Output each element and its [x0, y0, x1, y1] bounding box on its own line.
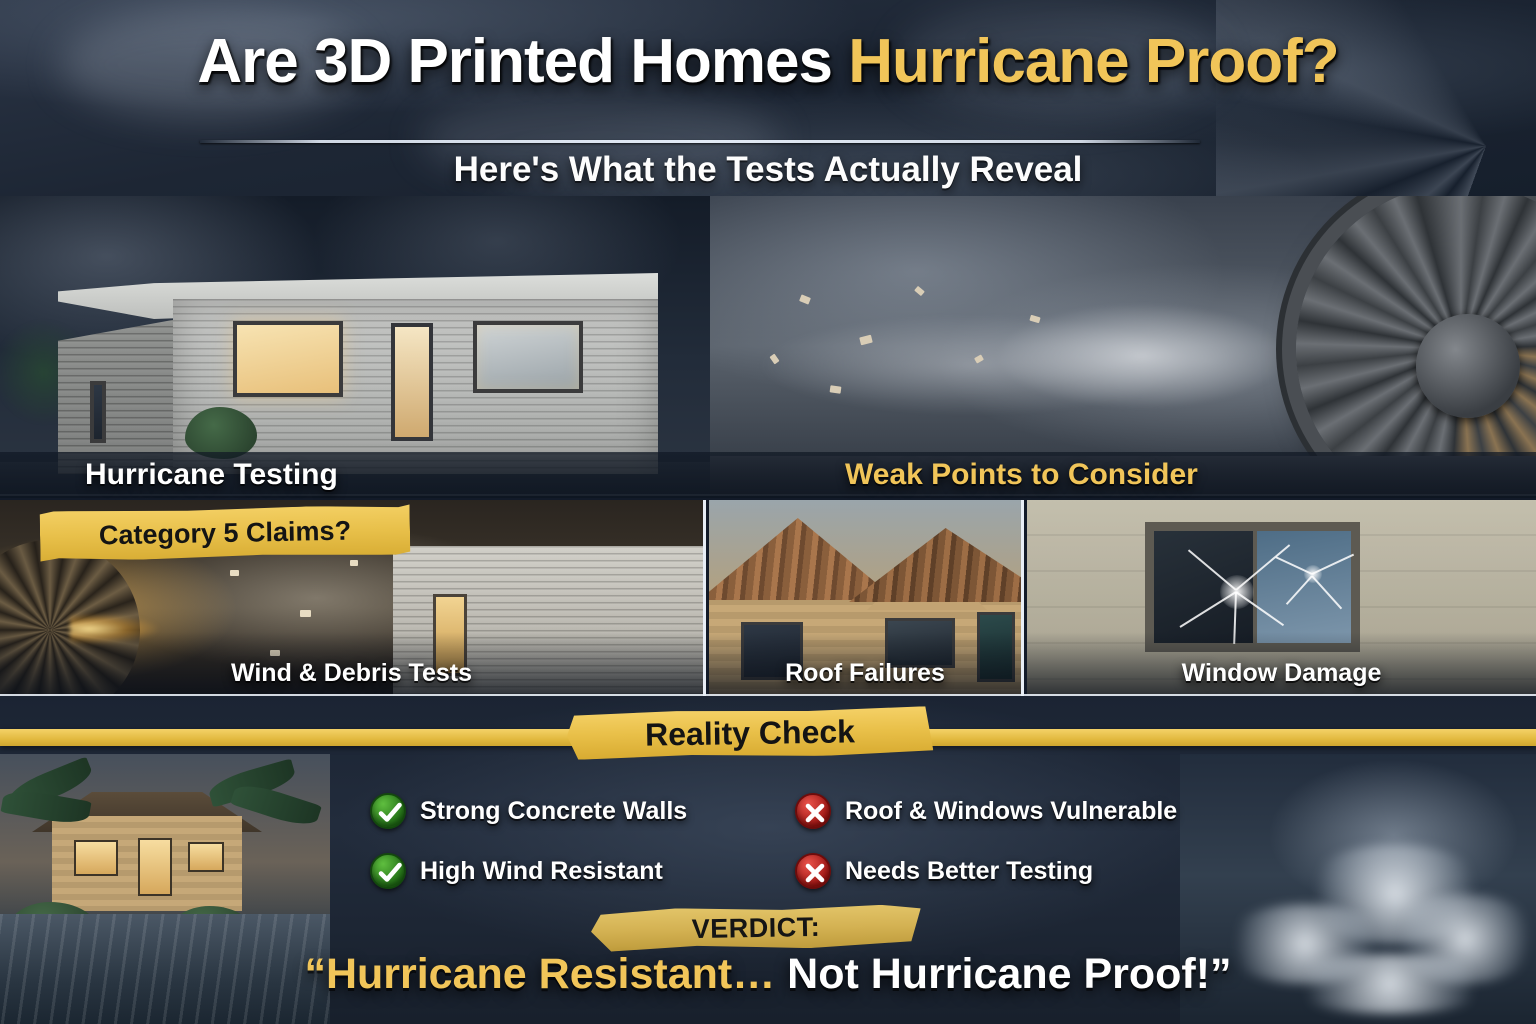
- reality-check-banner: Reality Check: [567, 706, 934, 760]
- title-divider-rule: [200, 140, 1200, 143]
- debris-fleck: [300, 610, 311, 617]
- check-circle-icon: [370, 793, 406, 829]
- pro-label-high-wind-resistant: High Wind Resistant: [420, 857, 663, 886]
- middle-panel-row: Category 5 Claims? Wind & Debris Tests R…: [0, 500, 1536, 696]
- panel-caption-wind-debris: Wind & Debris Tests: [0, 659, 703, 688]
- x-circle-icon: [795, 853, 831, 889]
- reality-check-label: Reality Check: [645, 713, 855, 753]
- hero-label-weak-points: Weak Points to Consider: [845, 452, 1198, 498]
- hero-image-3d-printed-house: [0, 196, 710, 496]
- panel-caption-window-damage: Window Damage: [1027, 659, 1536, 688]
- verdict-quote: “Hurricane Resistant… Not Hurricane Proo…: [0, 950, 1536, 999]
- title-text-gold: Hurricane Proof?: [848, 27, 1338, 96]
- check-circle-icon: [370, 853, 406, 889]
- debris-fleck: [350, 560, 358, 566]
- debris-fleck: [230, 570, 239, 576]
- title-text-white: Are 3D Printed Homes: [197, 27, 848, 96]
- printed-house-illustration: [58, 259, 658, 474]
- hero-image-wind-tunnel: [710, 196, 1536, 496]
- panel-window-damage: Window Damage: [1027, 500, 1536, 696]
- hero-row: [0, 196, 1536, 496]
- pros-cons-checklist: Strong Concrete Walls High Wind Resistan…: [370, 785, 1240, 895]
- house-side-wall: [58, 319, 178, 474]
- lit-window: [188, 842, 224, 872]
- list-item-pro: Strong Concrete Walls: [370, 793, 687, 829]
- verdict-label: VERDICT:: [691, 911, 820, 944]
- con-label-needs-better-testing: Needs Better Testing: [845, 857, 1093, 886]
- pro-label-strong-concrete-walls: Strong Concrete Walls: [420, 797, 687, 826]
- verdict-quote-white: Not Hurricane Proof!”: [775, 950, 1231, 998]
- x-circle-icon: [795, 793, 831, 829]
- page-subtitle: Here's What the Tests Actually Reveal: [0, 150, 1536, 190]
- debris-fleck: [830, 385, 842, 393]
- con-label-roof-windows-vulnerable: Roof & Windows Vulnerable: [845, 797, 1177, 826]
- list-item-con: Roof & Windows Vulnerable: [795, 793, 1177, 829]
- stripped-roof-right: [849, 528, 1024, 602]
- list-item-pro: High Wind Resistant: [370, 853, 663, 889]
- panel-roof-failures: Roof Failures: [709, 500, 1024, 696]
- hero-label-hurricane-testing: Hurricane Testing: [85, 452, 338, 498]
- debris-blast-cloud: [750, 266, 1310, 446]
- infographic-poster: Are 3D Printed Homes Hurricane Proof? He…: [0, 0, 1536, 1024]
- fan-hub: [1416, 314, 1520, 418]
- house-body: [52, 816, 242, 911]
- panel-caption-roof-failures: Roof Failures: [709, 659, 1021, 688]
- tag-label: Category 5 Claims?: [99, 515, 352, 551]
- lit-window-left: [233, 321, 343, 397]
- damaged-window: [473, 321, 583, 393]
- front-door: [391, 323, 433, 441]
- crack-line: [1188, 549, 1237, 590]
- lit-window: [74, 840, 118, 876]
- tag-category-5-claims: Category 5 Claims?: [40, 504, 411, 561]
- list-item-con: Needs Better Testing: [795, 853, 1093, 889]
- side-window: [90, 381, 106, 443]
- crack-line: [1179, 591, 1236, 628]
- house-front-wall: [173, 299, 658, 474]
- verdict-quote-gold: “Hurricane Resistant…: [304, 950, 775, 998]
- front-door: [138, 838, 172, 896]
- page-title: Are 3D Printed Homes Hurricane Proof?: [0, 30, 1536, 94]
- header-section: Are 3D Printed Homes Hurricane Proof? He…: [0, 0, 1536, 196]
- panel-wind-debris-tests: Category 5 Claims? Wind & Debris Tests: [0, 500, 706, 696]
